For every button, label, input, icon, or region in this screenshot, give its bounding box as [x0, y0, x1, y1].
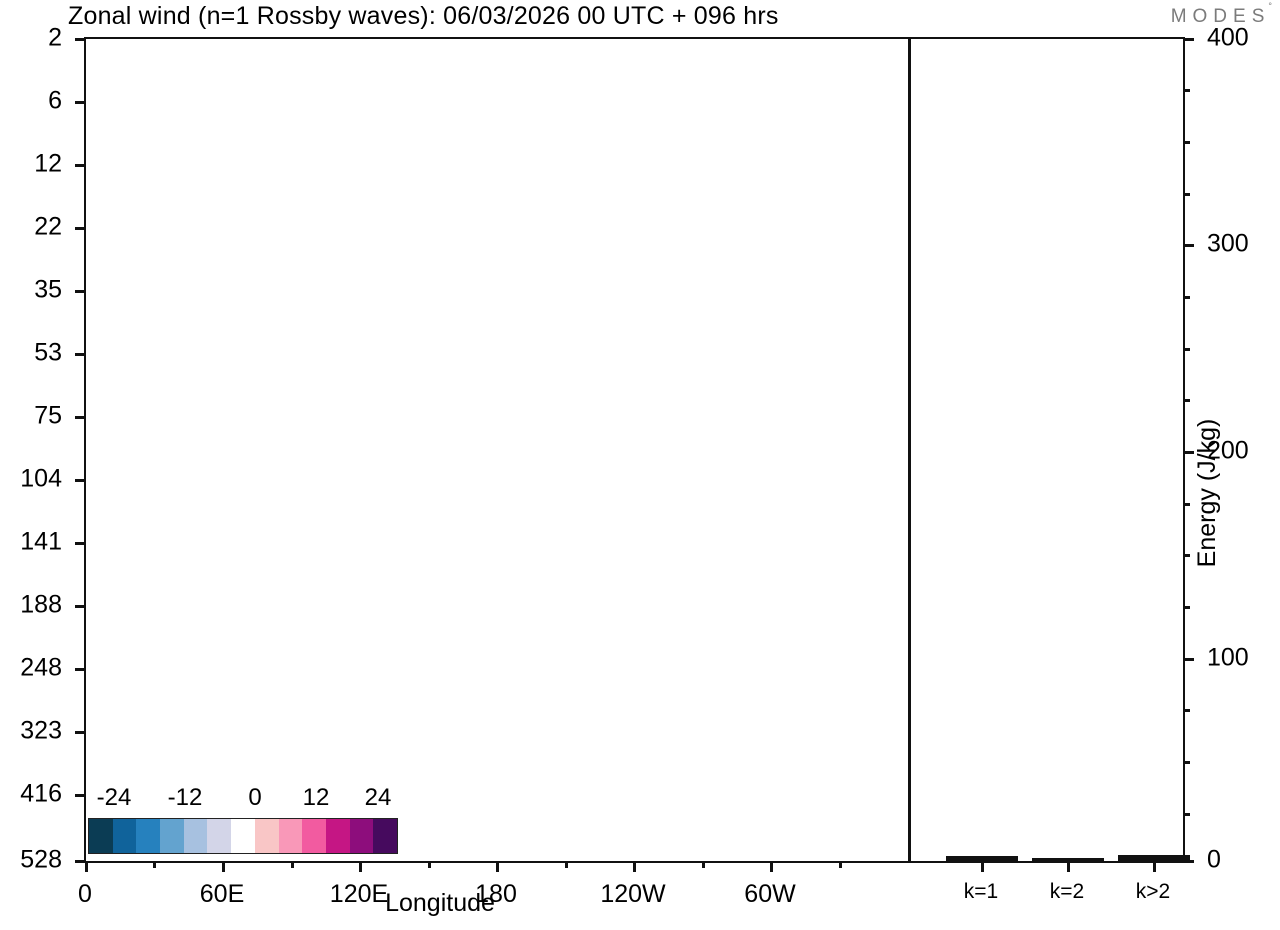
colorbar-tick-label: 12 [303, 784, 330, 812]
y-tick-label: 188 [20, 591, 62, 620]
colorbar-swatch-7 [255, 819, 279, 853]
colorbar-swatch-6 [231, 819, 255, 853]
colorbar-labels: -24 -12 0 12 24 [88, 784, 398, 812]
energy-bar-panel: k=1 k=2 k>2 [910, 39, 1185, 861]
y2-tick-label: 300 [1207, 230, 1249, 259]
y-tick-label: 22 [34, 213, 62, 242]
page-title: Zonal wind (n=1 Rossby waves): 06/03/202… [68, 2, 779, 31]
x-tick-label: 60E [200, 880, 244, 909]
colorbar-swatch-3 [160, 819, 184, 853]
colorbar-tick-label: -24 [97, 784, 132, 812]
x-tick-label: 60W [744, 880, 795, 909]
y-tick-label: 35 [34, 276, 62, 305]
colorbar-swatch-0 [89, 819, 113, 853]
x-tick-label: 0 [78, 880, 92, 909]
colorbar-swatch-1 [113, 819, 137, 853]
colorbar-swatch-9 [302, 819, 326, 853]
colorbar-swatch-5 [207, 819, 231, 853]
y2-tick-label: 100 [1207, 644, 1249, 673]
y-tick-label: 12 [34, 150, 62, 179]
y-tick-label: 53 [34, 339, 62, 368]
x-tick-label: 180 [475, 880, 517, 909]
y-tick-label: 141 [20, 528, 62, 557]
y-tick-label: 528 [20, 846, 62, 875]
colorbar-tick-label: 0 [248, 784, 261, 812]
colorbar [88, 818, 398, 854]
colorbar-swatch-11 [350, 819, 374, 853]
colorbar-tick-label: -12 [168, 784, 203, 812]
k-tick-label: k=2 [1050, 880, 1084, 904]
plot-frame: 2 6 12 22 35 53 75 104 141 188 248 323 4… [84, 37, 1185, 863]
k-tick-label: k=1 [964, 880, 998, 904]
x-tick-label: 120E [330, 880, 388, 909]
y-tick-label: 248 [20, 654, 62, 683]
y2-tick-label: 0 [1207, 846, 1221, 875]
colorbar-swatch-8 [279, 819, 303, 853]
colorbar-swatch-12 [373, 819, 397, 853]
modes-logo-mark: ° [1268, 1, 1272, 11]
panel-divider [908, 37, 911, 863]
colorbar-swatch-10 [326, 819, 350, 853]
y-tick-label: 2 [48, 24, 62, 53]
y-tick-label: 6 [48, 87, 62, 116]
y-tick-label: 104 [20, 465, 62, 494]
y2-tick-label: 400 [1207, 24, 1249, 53]
x-tick-label: 120W [600, 880, 665, 909]
y2-tick-label: 200 [1207, 437, 1249, 466]
y-tick-label: 416 [20, 780, 62, 809]
y-tick-label: 323 [20, 717, 62, 746]
colorbar-swatch-4 [184, 819, 208, 853]
colorbar-swatch-2 [136, 819, 160, 853]
y-tick-label: 75 [34, 402, 62, 431]
colorbar-tick-label: 24 [365, 784, 392, 812]
k-tick-label: k>2 [1136, 880, 1170, 904]
